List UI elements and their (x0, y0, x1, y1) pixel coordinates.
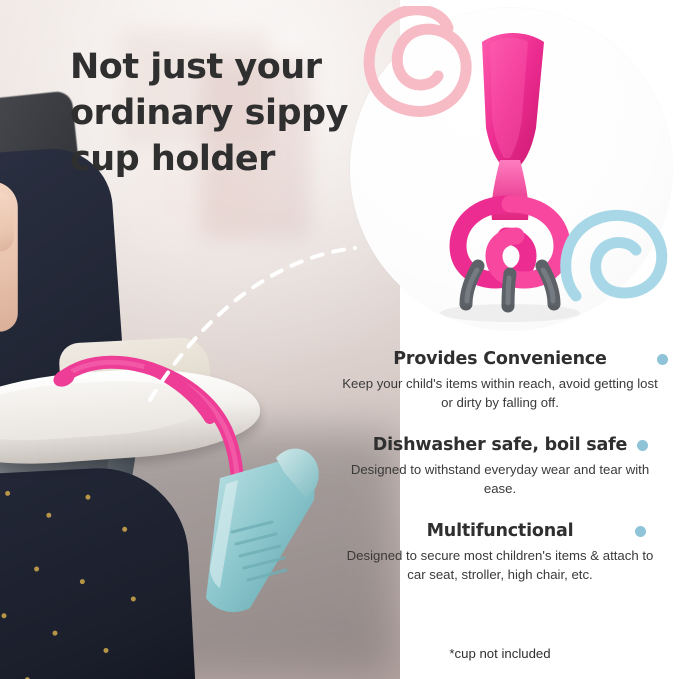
product-infographic: Not just your ordinary sippy cup holder … (0, 0, 679, 679)
feature-title: Multifunctional (330, 520, 670, 542)
dot-icon (657, 354, 668, 365)
sippy-cup (180, 448, 330, 623)
dot-icon (637, 440, 648, 451)
dot-icon (635, 526, 646, 537)
feature-title: Dishwasher safe, boil safe (330, 434, 670, 456)
spiral-icon (560, 178, 679, 318)
headline-line-3: cup holder (70, 136, 400, 182)
feature-description: Designed to withstand everyday wear and … (330, 460, 670, 498)
headline-line-2: ordinary sippy (70, 90, 400, 136)
feature-item: Multifunctional Designed to secure most … (330, 520, 670, 584)
feature-description: Designed to secure most children's items… (330, 546, 670, 584)
page-title: Not just your ordinary sippy cup holder (70, 44, 400, 182)
feature-item: Dishwasher safe, boil safe Designed to w… (330, 434, 670, 498)
dashed-arc-icon (140, 200, 410, 420)
headline-line-1: Not just your (70, 44, 400, 90)
footnote: *cup not included (330, 646, 670, 661)
